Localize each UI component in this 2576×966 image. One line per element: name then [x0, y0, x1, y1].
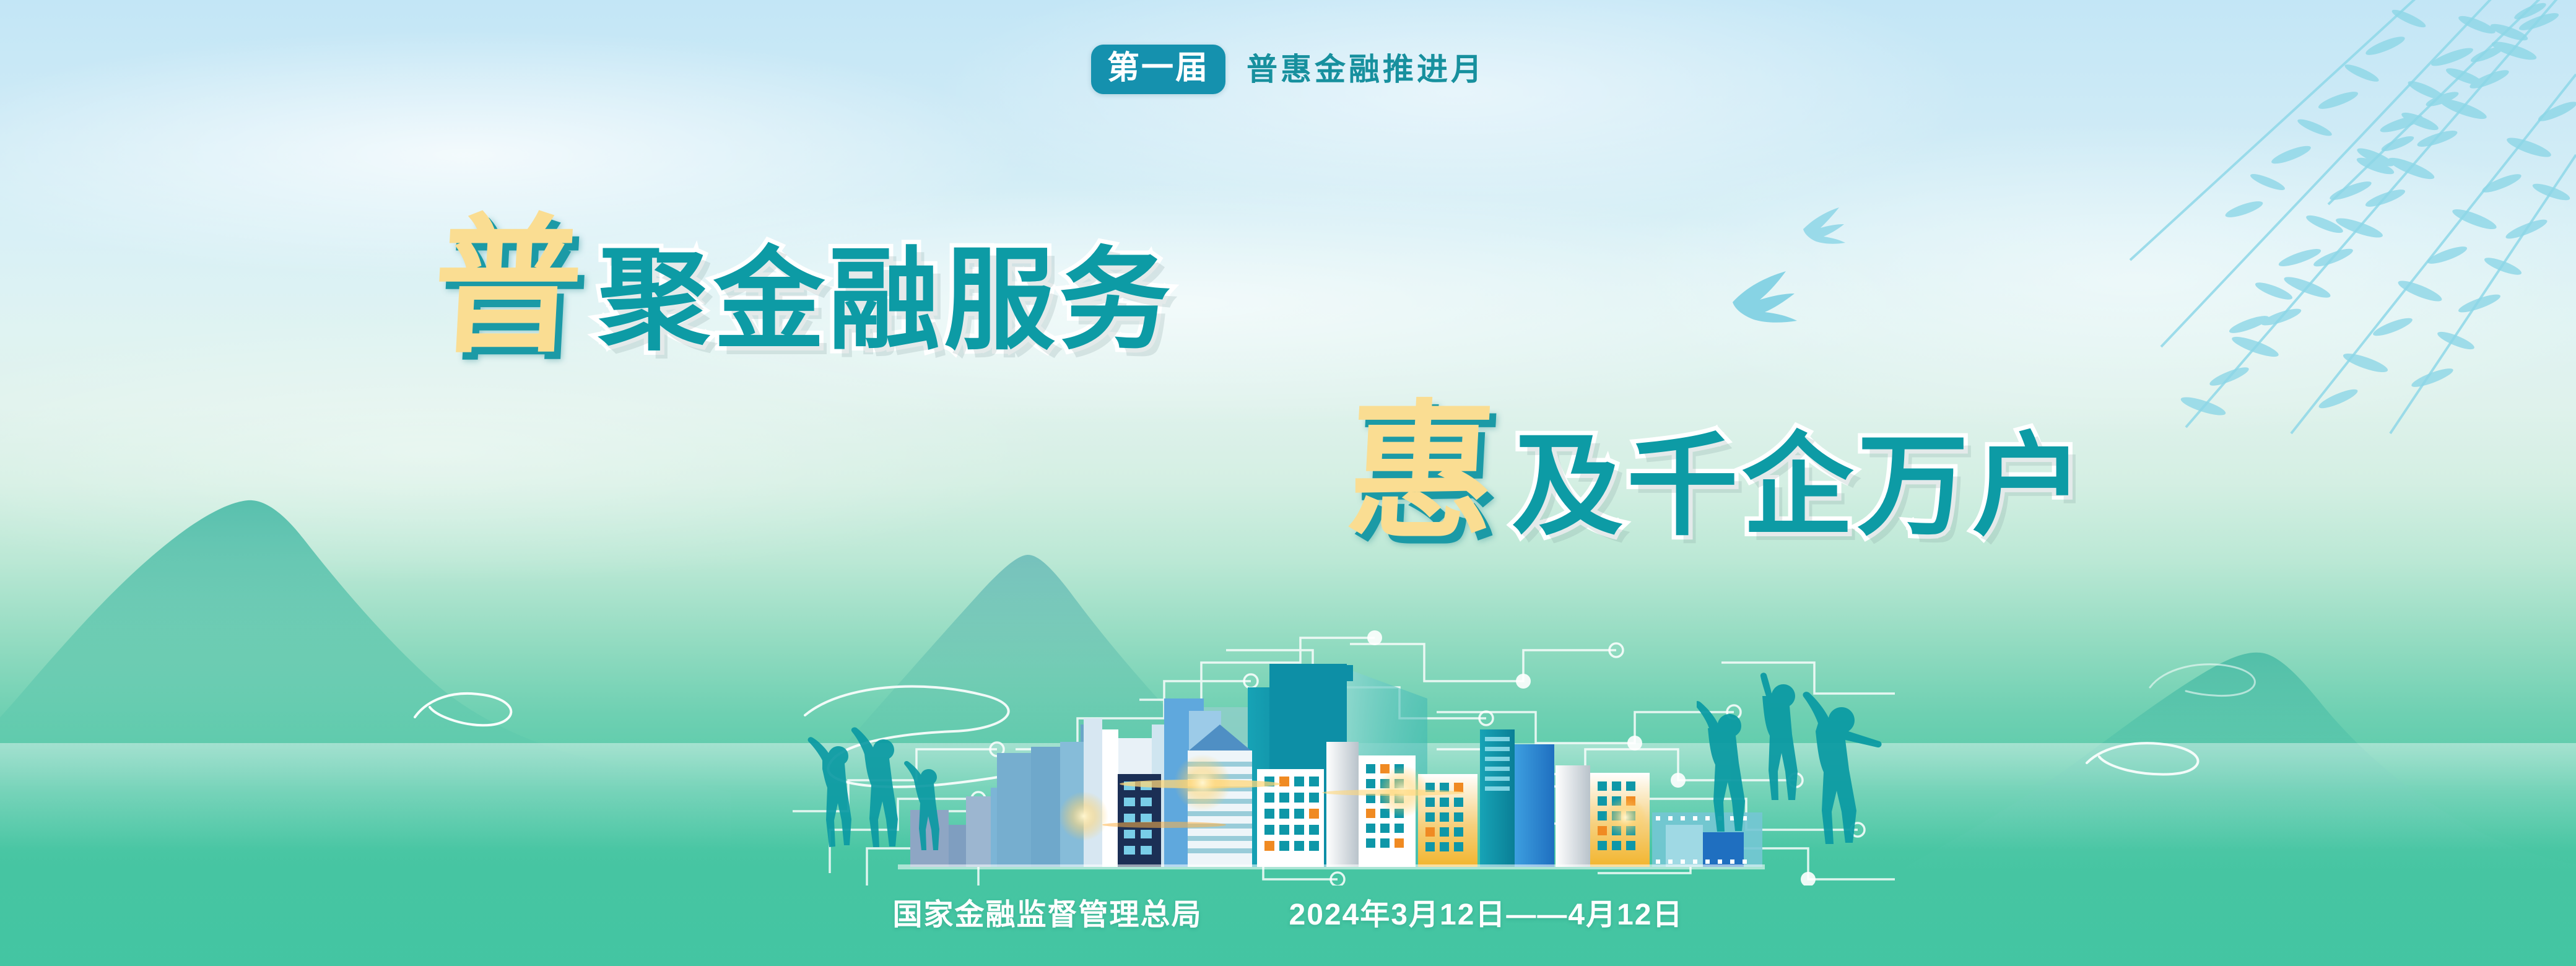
headline-line-1: 普 聚金融服务 [433, 220, 1174, 357]
headline-accent-char-1: 普 [430, 220, 586, 357]
edition-badge: 第一届 [1091, 45, 1225, 94]
header-title: 普惠金融推进月 [1247, 54, 1485, 85]
banner-poster: 第一届 普惠金融推进月 普 聚金融服务 惠 及千企万户 国家金融监督管理总局 2… [0, 0, 2576, 966]
swallow-icon [1721, 266, 1839, 353]
footer-organization: 国家金融监督管理总局 [893, 900, 1203, 930]
headline-text-1: 聚金融服务 [598, 245, 1174, 357]
header: 第一届 普惠金融推进月 [0, 45, 2576, 94]
cloud-wash [1610, 124, 2576, 433]
cloud-wash [929, 0, 1982, 235]
mountain-left [0, 384, 731, 855]
mountain-right [1895, 477, 2576, 873]
city-skyline-illustration [898, 650, 1765, 873]
swallow-icon [1796, 204, 1870, 263]
footer-date-range: 2024年3月12日——4月12日 [1289, 900, 1684, 930]
footer: 国家金融监督管理总局 2024年3月12日——4月12日 [0, 900, 2576, 930]
